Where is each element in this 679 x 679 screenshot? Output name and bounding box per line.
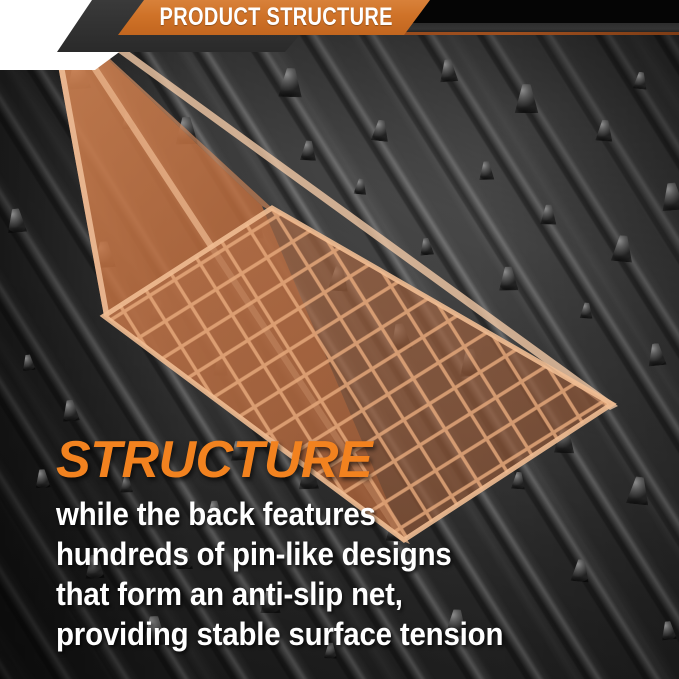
body-line-2: hundreds of pin-like designs: [56, 534, 608, 574]
product-structure-poster: PRODUCT STRUCTURE STRUCTURE while the ba…: [0, 0, 679, 679]
banner-label: PRODUCT STRUCTURE: [155, 3, 393, 32]
body-line-1: while the back features: [56, 494, 608, 534]
text-block: STRUCTURE while the back features hundre…: [56, 432, 656, 654]
product-structure-banner: PRODUCT STRUCTURE: [118, 0, 430, 35]
body-line-3: that form an anti-slip net,: [56, 574, 608, 614]
headline: STRUCTURE: [56, 432, 656, 488]
body-line-4: providing stable surface tension: [56, 614, 608, 654]
